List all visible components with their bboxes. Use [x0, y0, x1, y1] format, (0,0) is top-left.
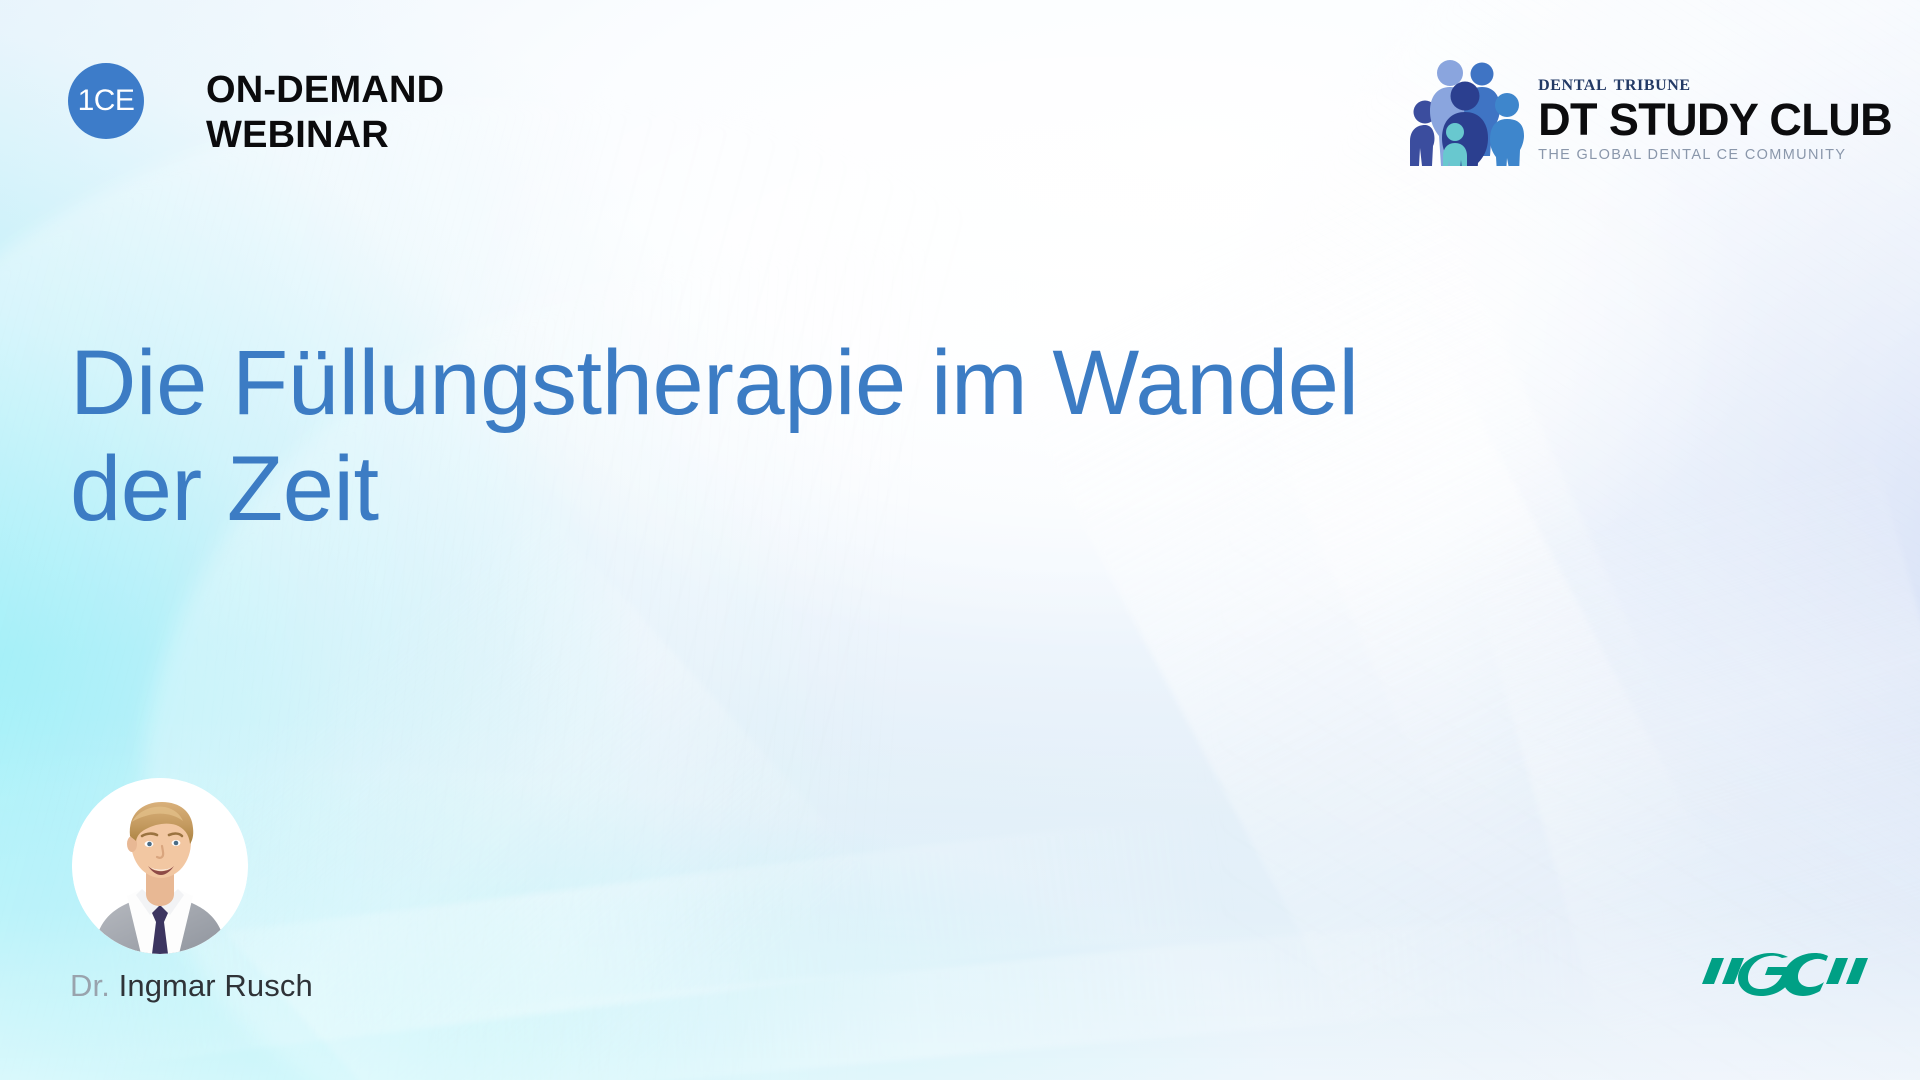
- dt-study-club-wordmark: Dental Tribune DT STUDY CLUB THE GLOBAL …: [1538, 70, 1892, 166]
- speaker-name: Dr. Ingmar Rusch: [70, 968, 313, 1004]
- people-group-icon: [1406, 56, 1524, 166]
- kicker-line-1: ON-DEMAND: [206, 69, 444, 111]
- kicker-line-2: WEBINAR: [206, 114, 389, 156]
- webinar-type-kicker: ON-DEMAND WEBINAR: [206, 68, 444, 158]
- page-title-line-1: Die Füllungstherapie im Wandel: [70, 330, 1630, 437]
- gc-logo: [1698, 944, 1868, 996]
- ce-credit-badge-label: 1CE: [78, 86, 135, 116]
- dt-study-club-logo: Dental Tribune DT STUDY CLUB THE GLOBAL …: [1406, 56, 1892, 166]
- avatar: [72, 778, 248, 954]
- page-title-line-2: der Zeit: [70, 436, 1630, 543]
- ce-credit-badge: 1CE: [68, 63, 144, 139]
- dental-tribune-kicker: Dental Tribune: [1538, 70, 1691, 95]
- speaker-name-value: Ingmar Rusch: [119, 968, 313, 1003]
- page-title: Die Füllungstherapie im Wandel der Zeit: [70, 330, 1630, 543]
- dt-study-club-tagline: THE GLOBAL DENTAL CE COMMUNITY: [1538, 147, 1846, 164]
- speaker-portrait-illustration: [72, 778, 248, 954]
- webinar-title-slide: 1CE ON-DEMAND WEBINAR: [0, 0, 1920, 1080]
- speaker-name-prefix: Dr.: [70, 968, 110, 1003]
- dt-study-club-name: DT STUDY CLUB: [1538, 97, 1892, 143]
